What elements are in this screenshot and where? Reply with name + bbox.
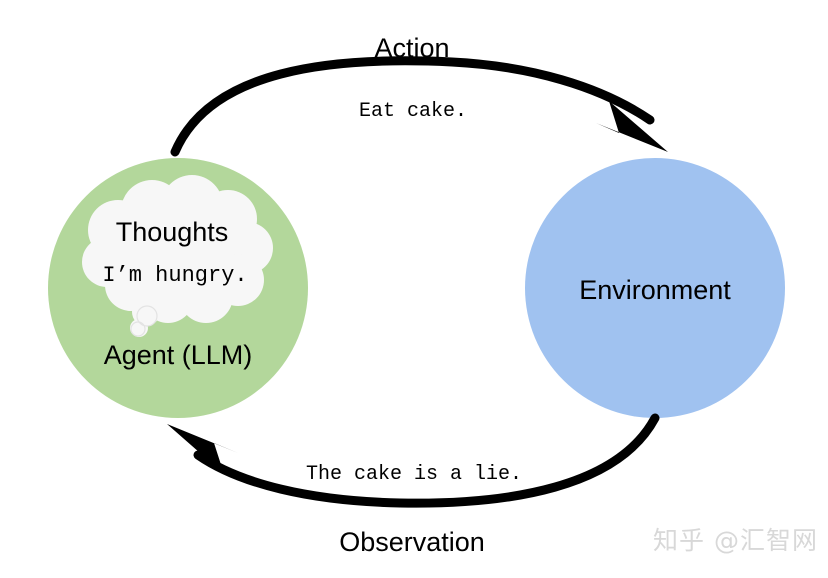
observation-arrow-arc: [198, 418, 655, 503]
thought-heading-label: Thoughts: [116, 217, 229, 247]
action-edge-label: Action: [374, 33, 449, 63]
action-message-label: Eat cake.: [359, 100, 467, 123]
observation-edge-label: Observation: [339, 527, 485, 557]
diagram-root: Thoughts I’m hungry. Agent (LLM) Environ…: [0, 0, 828, 578]
observation-message-label: The cake is a lie.: [306, 463, 522, 486]
diagram-canvas: Thoughts I’m hungry. Agent (LLM) Environ…: [0, 0, 828, 578]
watermark-label: 知乎 @汇智网: [653, 526, 818, 555]
node-agent-label: Agent (LLM): [104, 340, 253, 370]
node-environment-label: Environment: [579, 275, 731, 305]
thought-content-label: I’m hungry.: [102, 263, 247, 288]
